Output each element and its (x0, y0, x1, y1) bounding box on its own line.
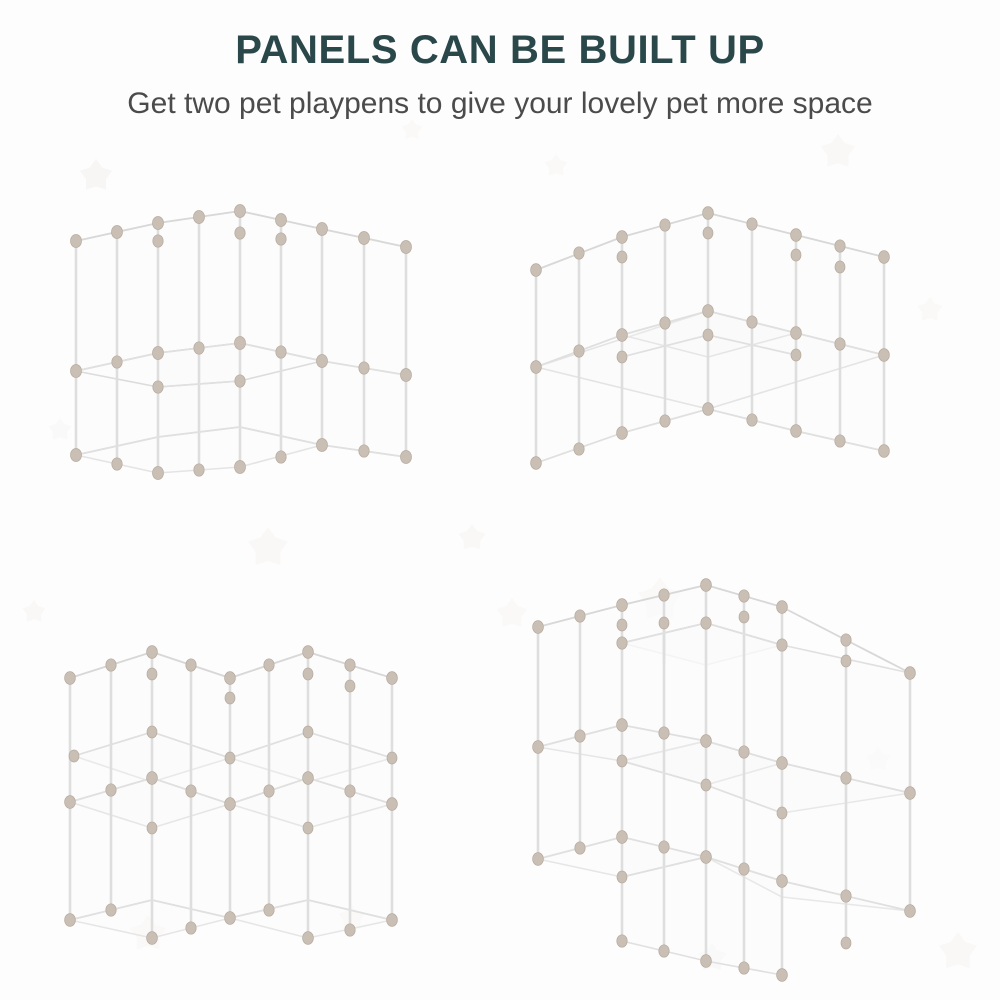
watermark-star (821, 134, 855, 167)
watermark-star (459, 524, 486, 549)
playpen-zigzag-shelved (40, 600, 460, 940)
watermark-star (545, 154, 568, 176)
header-block: PANELS CAN BE BUILT UP Get two pet playp… (0, 26, 1000, 124)
page-title: PANELS CAN BE BUILT UP (0, 26, 1000, 74)
product-infographic-page: PANELS CAN BE BUILT UP Get two pet playp… (0, 0, 1000, 1000)
watermark-star (248, 527, 288, 565)
playpen-tall-cube (40, 175, 460, 505)
playpen-multi-room (490, 575, 950, 975)
page-subtitle: Get two pet playpens to give your lovely… (0, 84, 1000, 124)
playpen-wide-low (500, 195, 950, 495)
